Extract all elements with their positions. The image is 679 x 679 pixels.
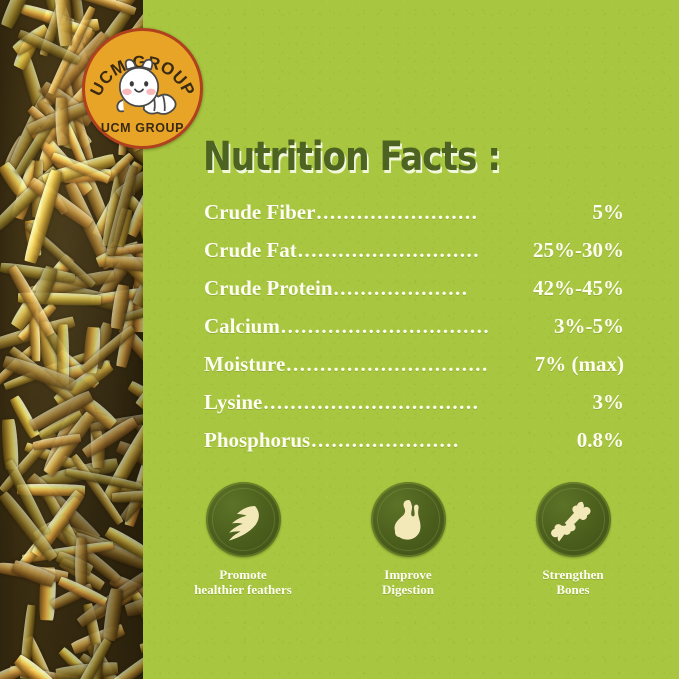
nutrition-fact-value: 3% bbox=[593, 390, 625, 415]
page-title: Nutrition Facts : bbox=[203, 137, 500, 177]
logo-bottom-label: UCM GROUP bbox=[85, 121, 200, 135]
feather-wing-icon bbox=[220, 497, 266, 543]
benefit-item: StrengthenBones bbox=[498, 482, 648, 598]
nutrition-fact-value: 42%-45% bbox=[533, 276, 624, 301]
bone-joint-icon bbox=[550, 497, 596, 543]
stomach-icon bbox=[386, 497, 430, 543]
benefit-icon-circle bbox=[536, 482, 611, 557]
nutrition-fact-row: Crude Fiber........................5% bbox=[204, 200, 624, 238]
nutrition-fact-label: Calcium bbox=[204, 314, 280, 339]
nutrition-fact-row: Phosphorus......................0.8% bbox=[204, 428, 624, 466]
nutrition-fact-label: Moisture bbox=[204, 352, 285, 377]
nutrition-fact-label: Lysine bbox=[204, 390, 262, 415]
benefit-item: Promotehealthier feathers bbox=[168, 482, 318, 598]
nutrition-fact-dots: .............................. bbox=[286, 352, 534, 377]
nutrition-fact-dots: ............................... bbox=[281, 314, 553, 339]
nutrition-fact-dots: ........................... bbox=[298, 238, 532, 263]
nutrition-fact-value: 0.8% bbox=[577, 428, 624, 453]
nutrition-fact-dots: ........................ bbox=[316, 200, 591, 225]
benefits-row: Promotehealthier feathersImproveDigestio… bbox=[168, 482, 648, 598]
nutrition-fact-value: 25%-30% bbox=[533, 238, 624, 263]
nutrition-fact-dots: .................... bbox=[334, 276, 532, 301]
nutrition-fact-label: Crude Protein bbox=[204, 276, 333, 301]
nutrition-fact-row: Crude Fat...........................25%-… bbox=[204, 238, 624, 276]
benefit-label-line1: Promote bbox=[168, 567, 318, 582]
benefit-label-line2: Bones bbox=[498, 582, 648, 597]
benefit-label: ImproveDigestion bbox=[333, 567, 483, 598]
benefit-label-line1: Improve bbox=[333, 567, 483, 582]
benefit-label-line2: healthier feathers bbox=[168, 582, 318, 597]
nutrition-fact-value: 3%-5% bbox=[554, 314, 624, 339]
benefit-label-line2: Digestion bbox=[333, 582, 483, 597]
nutrition-fact-row: Moisture..............................7%… bbox=[204, 352, 624, 390]
nutrition-fact-label: Crude Fiber bbox=[204, 200, 315, 225]
nutrition-fact-row: Crude Protein....................42%-45% bbox=[204, 276, 624, 314]
worm-mascot-icon bbox=[103, 57, 183, 117]
nutrition-fact-row: Calcium...............................3%… bbox=[204, 314, 624, 352]
nutrition-fact-label: Phosphorus bbox=[204, 428, 310, 453]
brand-logo: UCM GROUP UCM GROUP bbox=[82, 28, 203, 149]
nutrition-fact-label: Crude Fat bbox=[204, 238, 297, 263]
benefit-icon-circle bbox=[371, 482, 446, 557]
nutrition-fact-value: 5% bbox=[593, 200, 625, 225]
nutrition-fact-dots: ................................ bbox=[263, 390, 591, 415]
nutrition-fact-value: 7% (max) bbox=[535, 352, 624, 377]
benefit-label-line1: Strengthen bbox=[498, 567, 648, 582]
benefit-item: ImproveDigestion bbox=[333, 482, 483, 598]
benefit-label: StrengthenBones bbox=[498, 567, 648, 598]
nutrition-facts-list: Crude Fiber........................5%Cru… bbox=[204, 200, 624, 466]
nutrition-facts-infographic: UCM GROUP UCM GROUP Nutrition F bbox=[0, 0, 679, 679]
nutrition-fact-dots: ...................... bbox=[311, 428, 576, 453]
benefit-icon-circle bbox=[206, 482, 281, 557]
benefit-label: Promotehealthier feathers bbox=[168, 567, 318, 598]
nutrition-fact-row: Lysine................................3% bbox=[204, 390, 624, 428]
